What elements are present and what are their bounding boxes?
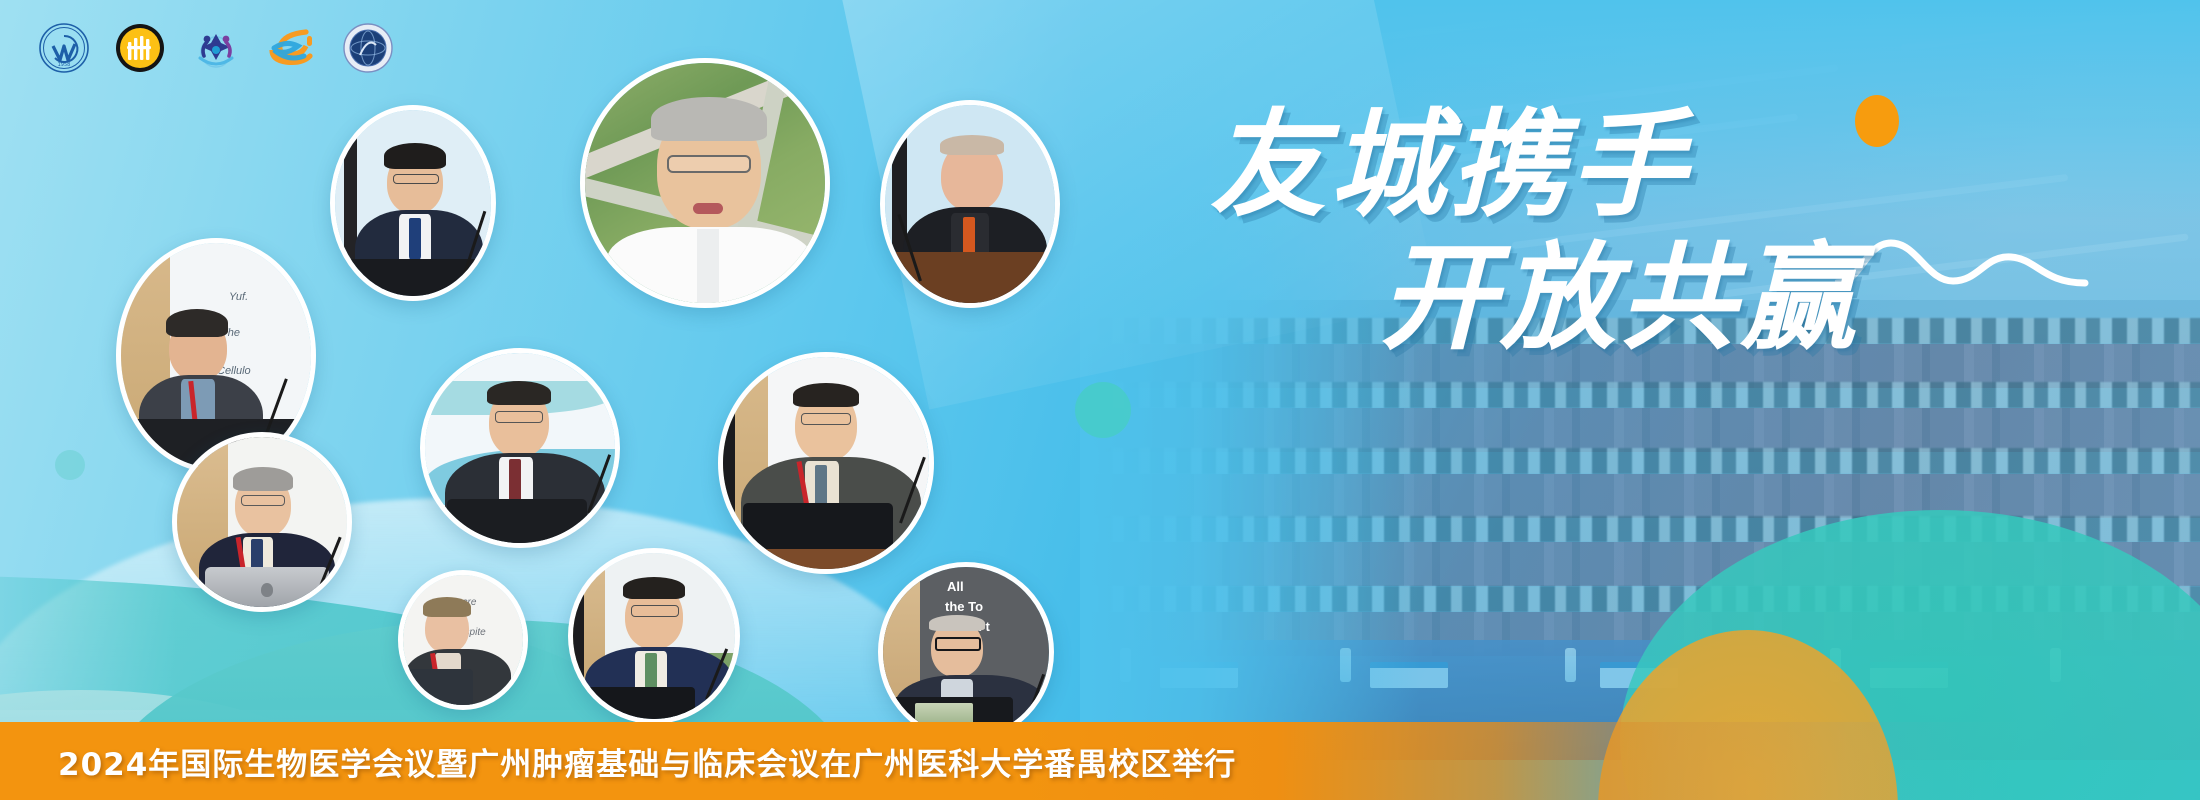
- slide-text-1: Yuf.: [229, 291, 248, 303]
- wave-squiggle-icon: [1835, 225, 2095, 295]
- svg-text:1958: 1958: [58, 62, 71, 68]
- portrait-speaker-7: [718, 352, 934, 574]
- portrait-speaker-9: [568, 548, 740, 724]
- guangzhou-medical-university-logo: 1958: [38, 22, 90, 74]
- conference-banner: 友城携手 开放共赢 1958: [0, 0, 2200, 800]
- institute-seal-logo: [342, 22, 394, 74]
- portrait-speaker-5: [172, 432, 352, 612]
- caption-text: 2024年国际生物医学会议暨广州肿瘤基础与临床会议在广州医科大学番禺校区举行: [58, 739, 1236, 784]
- portrait-speaker-6: [420, 348, 620, 548]
- ribbon-logo: [266, 22, 318, 74]
- health-association-logo: [190, 22, 242, 74]
- slide-text-2: the To: [945, 599, 983, 614]
- teal-dot-medium: [1075, 382, 1131, 438]
- logo-row: 1958: [38, 22, 394, 74]
- portrait-speaker-10: All the To Are in t: [878, 562, 1054, 742]
- portrait-speaker-8: ncre espite ent: [398, 570, 528, 710]
- portrait-speaker-4: [880, 100, 1060, 308]
- portrait-speaker-2: [330, 105, 496, 301]
- orange-dot: [1855, 95, 1899, 147]
- slide-text-1: All: [947, 579, 964, 594]
- guangzhou-city-logo: [114, 22, 166, 74]
- caption-bar: 2024年国际生物医学会议暨广州肿瘤基础与临床会议在广州医科大学番禺校区举行: [0, 722, 2200, 800]
- teal-dot-small: [55, 450, 85, 480]
- portrait-keynote-zhong-nanshan: [580, 58, 830, 308]
